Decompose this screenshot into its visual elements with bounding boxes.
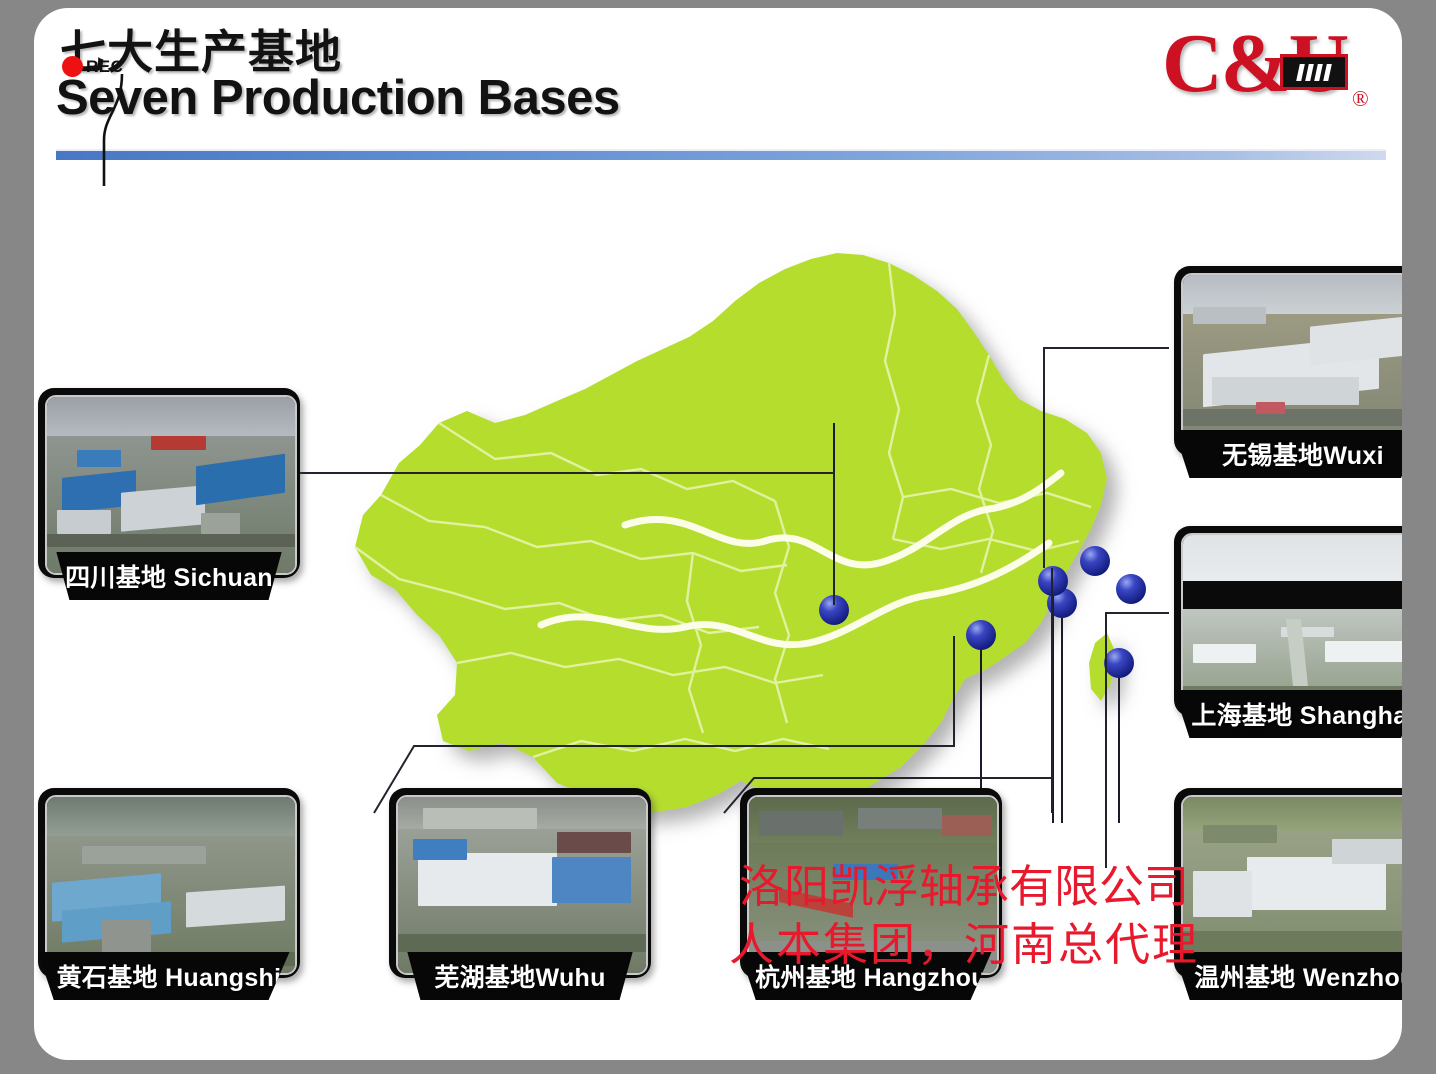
marker-hangzhou[interactable] [1047, 588, 1077, 823]
panel-label-shanghai: 上海基地 Shanghai [1174, 690, 1402, 738]
panel-label-text: 无锡基地Wuxi [1222, 436, 1384, 472]
panel-wenzhou[interactable]: 温州基地 Wenzhou [1174, 788, 1402, 1000]
panel-wuhu[interactable]: 芜湖基地Wuhu [389, 788, 651, 1000]
marker-shanghai[interactable] [1116, 574, 1146, 604]
panel-label-text: 温州基地 Wenzhou [1194, 958, 1402, 994]
panel-huangshi[interactable]: 黄石基地 Huangshi [38, 788, 300, 1000]
rec-leader-line-icon [74, 68, 144, 188]
photo-wuhu [398, 797, 646, 973]
marker-wuxi[interactable] [1080, 546, 1110, 576]
china-map-svg [289, 123, 1119, 823]
panel-shanghai[interactable]: 上海基地 Shanghai [1174, 526, 1402, 738]
china-map [289, 123, 1119, 823]
panel-label-text: 上海基地 Shanghai [1191, 696, 1402, 732]
panel-label-text: 黄石基地 Huangshi [57, 958, 282, 994]
photo-sichuan [47, 397, 295, 573]
panel-sichuan[interactable]: 四川基地 Sichuan [38, 388, 300, 600]
panel-wuxi[interactable]: 无锡基地Wuxi [1174, 266, 1402, 478]
panel-hangzhou[interactable]: 杭州基地 Hangzhou [740, 788, 1002, 1000]
photo-huangshi [47, 797, 295, 973]
outer-frame: 七大生产基地 Seven Production Bases REC C&U ® [0, 0, 1436, 1074]
photo-hangzhou [749, 797, 997, 973]
map-landmass [355, 253, 1115, 813]
panel-label-text: 芜湖基地Wuhu [434, 958, 605, 994]
photo-wuxi [1183, 275, 1402, 451]
brand-logo: C&U ® [1162, 26, 1378, 122]
panel-label-hangzhou: 杭州基地 Hangzhou [740, 952, 1002, 1000]
panel-label-sichuan: 四川基地 Sichuan [38, 552, 300, 600]
registered-mark: ® [1352, 86, 1369, 112]
bearing-icon [1280, 54, 1348, 90]
panel-label-huangshi: 黄石基地 Huangshi [38, 952, 300, 1000]
panel-label-wuhu: 芜湖基地Wuhu [389, 952, 651, 1000]
photo-shanghai [1183, 535, 1402, 711]
slide-card: 七大生产基地 Seven Production Bases REC C&U ® [34, 8, 1402, 1060]
panel-label-text: 杭州基地 Hangzhou [755, 958, 987, 994]
panel-label-wuxi: 无锡基地Wuxi [1174, 430, 1402, 478]
panel-label-wenzhou: 温州基地 Wenzhou [1174, 952, 1402, 1000]
photo-wenzhou [1183, 797, 1402, 973]
panel-label-text: 四川基地 Sichuan [65, 558, 273, 594]
